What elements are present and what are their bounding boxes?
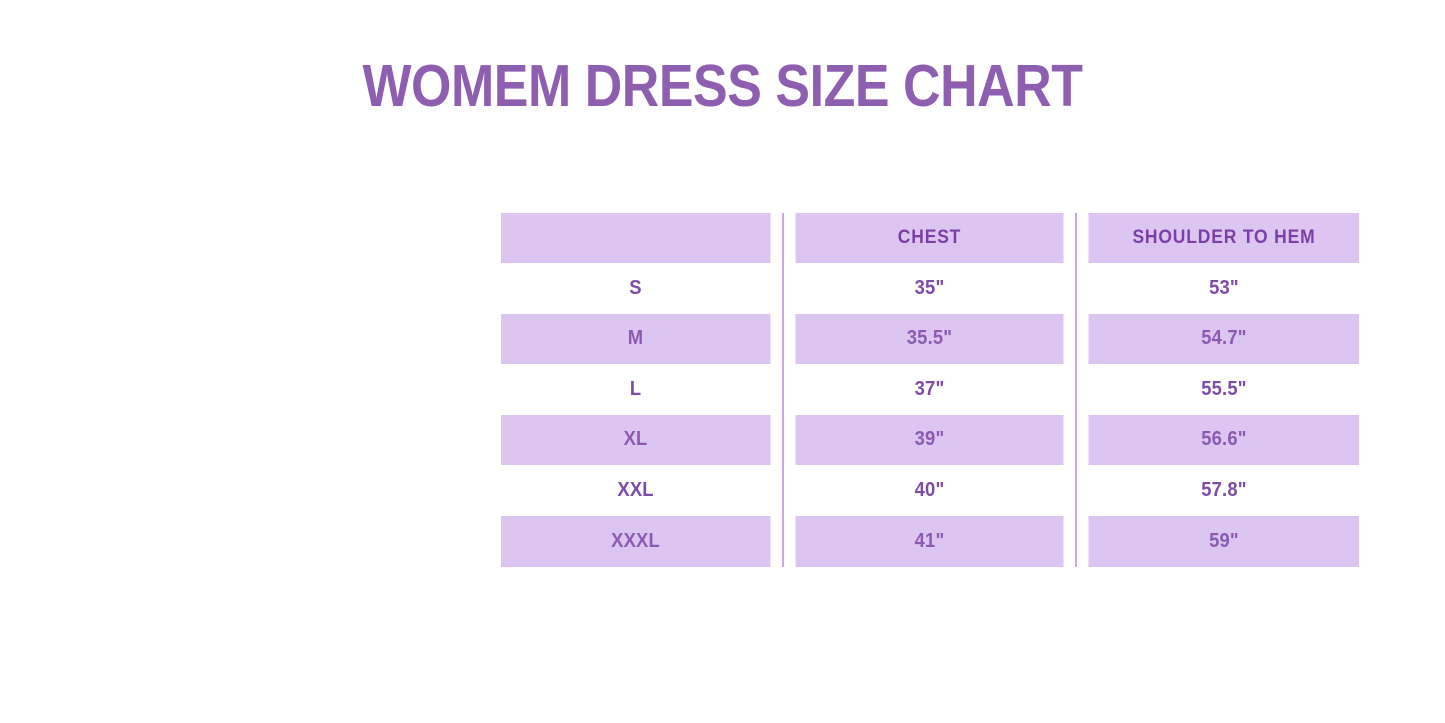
- table-body: S35"53"M35.5"54.7"L37"55.5"XL39"56.6"XXL…: [489, 263, 1371, 567]
- cell-size: XL: [501, 415, 771, 466]
- cell-chest: 41": [795, 516, 1065, 567]
- cell-size: S: [501, 263, 771, 314]
- cell-chest: 40": [795, 465, 1065, 516]
- cell-size: M: [501, 314, 771, 365]
- table-row: XXL40"57.8": [489, 465, 1371, 516]
- cell-shoulder-to-hem: 57.8": [1088, 465, 1359, 516]
- cell-chest: 35": [795, 263, 1065, 314]
- table-row: XXXL41"59": [489, 516, 1371, 567]
- cell-shoulder-to-hem: 59": [1088, 516, 1359, 567]
- cell-shoulder-to-hem: 53": [1088, 263, 1359, 314]
- table-row: XL39"56.6": [489, 415, 1371, 466]
- cell-shoulder-to-hem: 55.5": [1088, 364, 1359, 415]
- cell-size: XXXL: [501, 516, 771, 567]
- column-header-size: [501, 213, 771, 263]
- column-header-chest: CHEST: [795, 213, 1065, 263]
- cell-chest: 35.5": [795, 314, 1065, 365]
- table-row: S35"53": [489, 263, 1371, 314]
- cell-size: XXL: [501, 465, 771, 516]
- cell-size: L: [501, 364, 771, 415]
- page-title: WOMEM DRESS SIZE CHART: [87, 57, 1359, 116]
- cell-shoulder-to-hem: 56.6": [1088, 415, 1359, 466]
- table-header-row: CHEST SHOULDER TO HEM: [489, 213, 1371, 263]
- column-header-shoulder-to-hem: SHOULDER TO HEM: [1088, 213, 1359, 263]
- table-row: L37"55.5": [489, 364, 1371, 415]
- table-row: M35.5"54.7": [489, 314, 1371, 365]
- cell-chest: 39": [795, 415, 1065, 466]
- size-chart-page: WOMEM DRESS SIZE CHART CHEST SHOULDER TO…: [0, 0, 1445, 723]
- cell-chest: 37": [795, 364, 1065, 415]
- cell-shoulder-to-hem: 54.7": [1088, 314, 1359, 365]
- table-header: CHEST SHOULDER TO HEM: [489, 213, 1371, 263]
- size-chart-table: CHEST SHOULDER TO HEM S35"53"M35.5"54.7"…: [489, 213, 1371, 567]
